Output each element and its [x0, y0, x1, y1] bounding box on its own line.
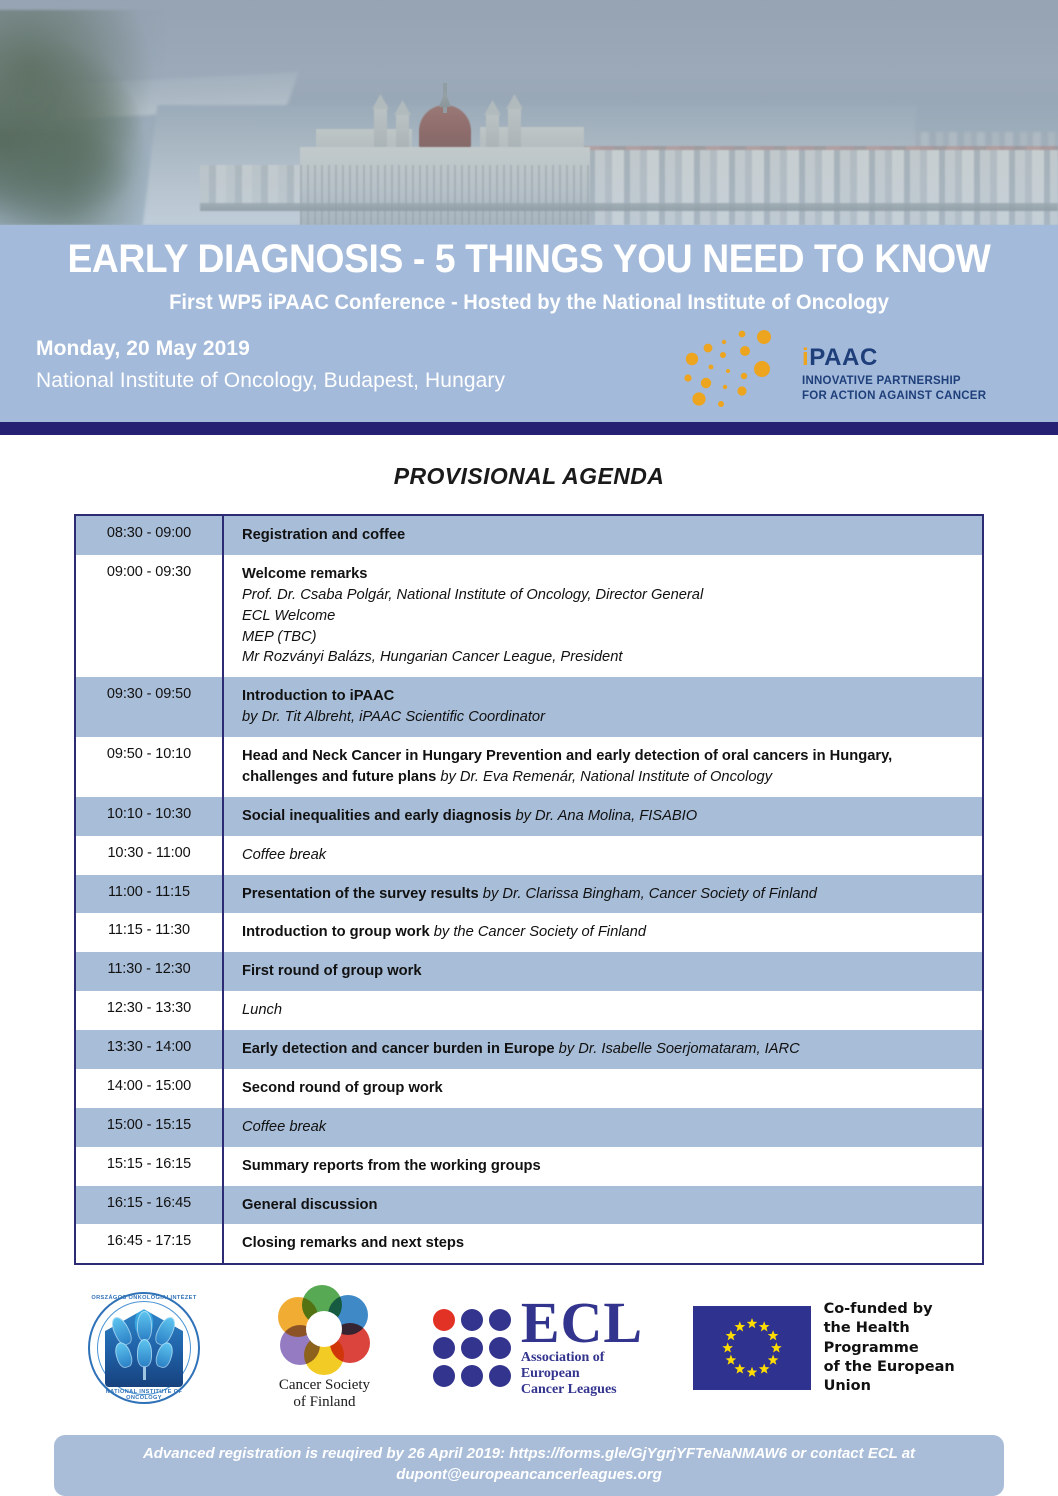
agenda-row-title: Introduction to iPAAC — [242, 688, 394, 704]
event-date: Monday, 20 May 2019 — [36, 337, 505, 361]
agenda-row-description: General discussion — [223, 1186, 983, 1225]
agenda-row-title: General discussion — [242, 1197, 378, 1213]
agenda-row: 10:30 - 11:00Coffee break — [75, 836, 983, 875]
agenda-row-title: Introduction to group work — [242, 924, 430, 940]
page-title: EARLY DIAGNOSIS - 5 THINGS YOU NEED TO K… — [61, 239, 997, 281]
eu-text-line1: Co-funded by — [824, 1300, 998, 1319]
agenda-row-description: Head and Neck Cancer in Hungary Preventi… — [223, 737, 983, 797]
agenda-row-time: 09:50 - 10:10 — [75, 737, 223, 797]
agenda-row-description: Welcome remarksProf. Dr. Csaba Polgár, N… — [223, 555, 983, 677]
agenda-row: 13:30 - 14:00Early detection and cancer … — [75, 1030, 983, 1069]
ipaac-tagline: INNOVATIVE PARTNERSHIP FOR ACTION AGAINS… — [802, 374, 986, 403]
agenda-row: 08:30 - 09:00Registration and coffee — [75, 515, 983, 555]
header-band: EARLY DIAGNOSIS - 5 THINGS YOU NEED TO K… — [0, 225, 1058, 422]
csf-line2: of Finland — [279, 1394, 370, 1411]
agenda-row-time: 10:30 - 11:00 — [75, 836, 223, 875]
ecl-dot — [461, 1337, 483, 1359]
ecl-tagline-line2: Cancer Leagues — [521, 1382, 653, 1398]
agenda-row-time: 15:00 - 15:15 — [75, 1108, 223, 1147]
agenda-row-title: Coffee break — [242, 847, 326, 863]
agenda-row-speaker: by Dr. Eva Remenár, National Institute o… — [436, 769, 772, 785]
agenda-row-speaker: by the Cancer Society of Finland — [430, 924, 646, 940]
ipaac-name-rest: PAAC — [809, 344, 878, 371]
ecl-dot — [433, 1337, 455, 1359]
registration-bar: Advanced registration is reuqired by 26 … — [54, 1435, 1004, 1496]
agenda-row-subline: Prof. Dr. Csaba Polgár, National Institu… — [242, 585, 968, 606]
nio-emblem-icon: ORSZÁGOS ONKOLÓGIAI INTÉZET NATIONAL INS… — [88, 1292, 200, 1404]
agenda-row-time: 11:15 - 11:30 — [75, 913, 223, 952]
agenda-row-time: 11:00 - 11:15 — [75, 875, 223, 914]
agenda-row-subline: by Dr. Tit Albreht, iPAAC Scientific Coo… — [242, 707, 968, 728]
agenda-row-time: 08:30 - 09:00 — [75, 515, 223, 555]
hero-photo-budapest — [0, 0, 1058, 225]
ecl-wordmark: ECL Association of European Cancer Leagu… — [521, 1299, 653, 1397]
eu-text-line2: the Health Programme — [824, 1319, 998, 1358]
ipaac-wordmark: iPAAC INNOVATIVE PARTNERSHIP FOR ACTION … — [802, 346, 986, 403]
nio-ring-text-top: ORSZÁGOS ONKOLÓGIAI INTÉZET — [88, 1295, 200, 1301]
ipaac-logo: iPAAC INNOVATIVE PARTNERSHIP FOR ACTION … — [676, 329, 1006, 415]
agenda-row: 09:00 - 09:30Welcome remarksProf. Dr. Cs… — [75, 555, 983, 677]
ipaac-tagline-line2: FOR ACTION AGAINST CANCER — [802, 389, 986, 404]
agenda-row-description: Lunch — [223, 991, 983, 1030]
eu-text-line3: of the European Union — [824, 1358, 998, 1397]
eu-flag-icon — [693, 1306, 811, 1390]
agenda-row-title: Coffee break — [242, 1119, 326, 1135]
ecl-dot — [461, 1365, 483, 1387]
agenda-row: 12:30 - 13:30Lunch — [75, 991, 983, 1030]
ipaac-tagline-line1: INNOVATIVE PARTNERSHIP — [802, 374, 986, 389]
agenda-heading: PROVISIONAL AGENDA — [0, 463, 1058, 490]
ecl-dot — [489, 1309, 511, 1331]
agenda-row-speaker: by Dr. Isabelle Soerjomataram, IARC — [555, 1041, 800, 1057]
agenda-row-description: Registration and coffee — [223, 515, 983, 555]
ipaac-dot-cluster-icon — [676, 329, 796, 415]
agenda-row-description: Early detection and cancer burden in Eur… — [223, 1030, 983, 1069]
agenda-row: 11:15 - 11:30Introduction to group work … — [75, 913, 983, 952]
csf-circles-icon — [278, 1285, 370, 1373]
logo-cancer-society-finland: Cancer Society of Finland — [254, 1285, 395, 1412]
eu-cofunding-text: Co-funded by the Health Programme of the… — [824, 1300, 998, 1397]
agenda-row-description: First round of group work — [223, 952, 983, 991]
agenda-row: 09:30 - 09:50Introduction to iPAACby Dr.… — [75, 677, 983, 737]
agenda-row: 11:30 - 12:30First round of group work — [75, 952, 983, 991]
agenda-row-time: 09:00 - 09:30 — [75, 555, 223, 677]
ipaac-name: iPAAC — [802, 346, 986, 370]
agenda-row-title: Presentation of the survey results — [242, 886, 479, 902]
agenda-row-description: Presentation of the survey results by Dr… — [223, 875, 983, 914]
agenda-row-title: Registration and coffee — [242, 527, 405, 543]
agenda-row-description: Closing remarks and next steps — [223, 1224, 983, 1264]
ecl-tagline-line1: Association of European — [521, 1350, 653, 1382]
agenda-row-time: 12:30 - 13:30 — [75, 991, 223, 1030]
page-subtitle: First WP5 iPAAC Conference - Hosted by t… — [46, 291, 1012, 315]
agenda-row-time: 16:45 - 17:15 — [75, 1224, 223, 1264]
agenda-row-title: Social inequalities and early diagnosis — [242, 808, 511, 824]
agenda-row: 15:15 - 16:15Summary reports from the wo… — [75, 1147, 983, 1186]
agenda-row-time: 09:30 - 09:50 — [75, 677, 223, 737]
agenda-row-title: Lunch — [242, 1002, 282, 1018]
ecl-dot — [489, 1337, 511, 1359]
agenda-row-title: Summary reports from the working groups — [242, 1158, 541, 1174]
ecl-dot — [433, 1365, 455, 1387]
navy-divider — [0, 422, 1058, 435]
agenda-row-title: First round of group work — [242, 963, 422, 979]
agenda-section: 08:30 - 09:00Registration and coffee09:0… — [0, 514, 1058, 1265]
agenda-row-title: Early detection and cancer burden in Eur… — [242, 1041, 555, 1057]
logo-eu-cofunding: Co-funded by the Health Programme of the… — [693, 1300, 998, 1397]
agenda-row: 11:00 - 11:15Presentation of the survey … — [75, 875, 983, 914]
registration-email: dupont@europeancancerleagues.org — [396, 1466, 662, 1483]
agenda-row-description: Second round of group work — [223, 1069, 983, 1108]
event-venue: National Institute of Oncology, Budapest… — [36, 369, 505, 393]
agenda-row-time: 11:30 - 12:30 — [75, 952, 223, 991]
nio-leaf — [137, 1339, 152, 1367]
agenda-row-time: 14:00 - 15:00 — [75, 1069, 223, 1108]
agenda-row-time: 13:30 - 14:00 — [75, 1030, 223, 1069]
agenda-row-title: Closing remarks and next steps — [242, 1235, 464, 1251]
csf-line1: Cancer Society — [279, 1377, 370, 1394]
agenda-row: 14:00 - 15:00Second round of group work — [75, 1069, 983, 1108]
agenda-row: 16:15 - 16:45General discussion — [75, 1186, 983, 1225]
agenda-row-description: Coffee break — [223, 1108, 983, 1147]
nio-ring-text-bottom: NATIONAL INSTITUTE OF ONCOLOGY — [88, 1389, 200, 1401]
agenda-row-title: Second round of group work — [242, 1080, 443, 1096]
agenda-row-description: Coffee break — [223, 836, 983, 875]
photo-color-wash — [0, 0, 1058, 225]
agenda-row: 16:45 - 17:15Closing remarks and next st… — [75, 1224, 983, 1264]
sponsor-logo-row: ORSZÁGOS ONKOLÓGIAI INTÉZET NATIONAL INS… — [0, 1283, 1058, 1413]
agenda-table: 08:30 - 09:00Registration and coffee09:0… — [74, 514, 984, 1265]
agenda-row: 10:10 - 10:30Social inequalities and ear… — [75, 797, 983, 836]
ecl-dot — [461, 1309, 483, 1331]
nio-leaf — [137, 1311, 152, 1341]
agenda-row-time: 15:15 - 16:15 — [75, 1147, 223, 1186]
agenda-row: 09:50 - 10:10Head and Neck Cancer in Hun… — [75, 737, 983, 797]
logo-national-institute-oncology: ORSZÁGOS ONKOLÓGIAI INTÉZET NATIONAL INS… — [60, 1292, 200, 1404]
event-meta: Monday, 20 May 2019 National Institute o… — [36, 337, 505, 393]
agenda-row-title: Welcome remarks — [242, 566, 367, 582]
ecl-name: ECL — [521, 1299, 653, 1347]
ecl-tagline: Association of European Cancer Leagues — [521, 1350, 653, 1398]
ecl-dot-grid-icon — [433, 1309, 511, 1387]
logo-ecl: ECL Association of European Cancer Leagu… — [433, 1299, 653, 1397]
agenda-row-speaker: by Dr. Ana Molina, FISABIO — [511, 808, 697, 824]
agenda-row-description: Summary reports from the working groups — [223, 1147, 983, 1186]
agenda-row-speaker: by Dr. Clarissa Bingham, Cancer Society … — [479, 886, 817, 902]
agenda-row-description: Introduction to group work by the Cancer… — [223, 913, 983, 952]
csf-wordmark: Cancer Society of Finland — [279, 1377, 370, 1412]
agenda-row-description: Introduction to iPAACby Dr. Tit Albreht,… — [223, 677, 983, 737]
agenda-table-body: 08:30 - 09:00Registration and coffee09:0… — [75, 515, 983, 1264]
agenda-row-description: Social inequalities and early diagnosis … — [223, 797, 983, 836]
agenda-row-subline: Mr Rozványi Balázs, Hungarian Cancer Lea… — [242, 647, 968, 668]
registration-line1: Advanced registration is reuqired by 26 … — [143, 1445, 915, 1462]
agenda-row-subline: ECL Welcome — [242, 606, 968, 627]
agenda-row-time: 16:15 - 16:45 — [75, 1186, 223, 1225]
agenda-row-subline: MEP (TBC) — [242, 627, 968, 648]
agenda-row: 15:00 - 15:15Coffee break — [75, 1108, 983, 1147]
ecl-dot-accent — [433, 1309, 455, 1331]
ecl-dot — [489, 1365, 511, 1387]
agenda-row-time: 10:10 - 10:30 — [75, 797, 223, 836]
